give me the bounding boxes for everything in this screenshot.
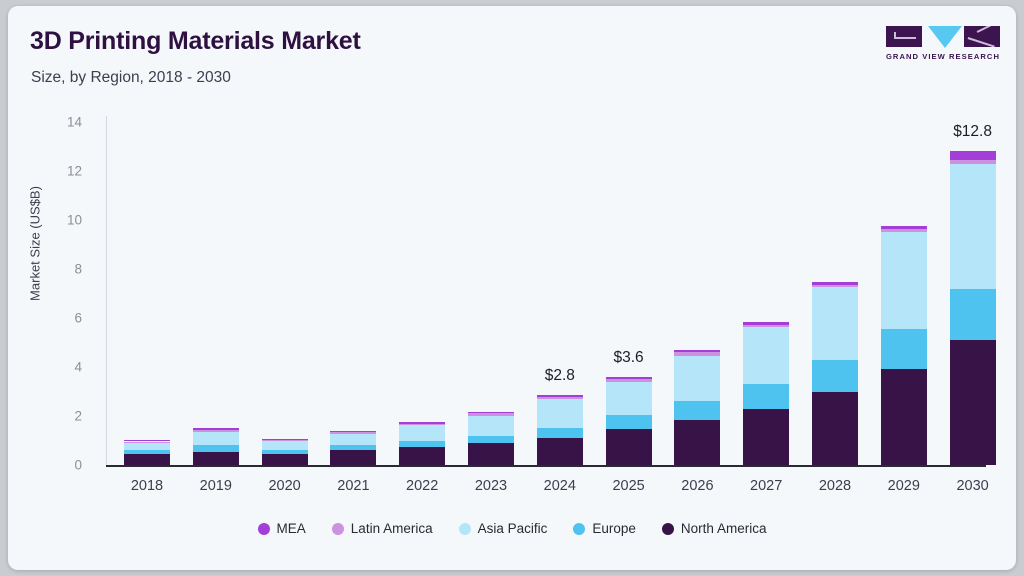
bar-value-label: $12.8 — [918, 123, 1016, 141]
legend-item-north-america[interactable]: North America — [662, 521, 767, 536]
chart-legend: MEALatin AmericaAsia PacificEuropeNorth … — [8, 521, 1016, 536]
y-axis-tick-label: 2 — [46, 409, 82, 424]
bar-segment-mea[interactable] — [193, 428, 239, 430]
bar-segment-north-america[interactable] — [743, 409, 789, 465]
legend-item-europe[interactable]: Europe — [573, 521, 636, 536]
bar-segment-asia-pacific[interactable] — [193, 432, 239, 445]
bar-group[interactable] — [468, 122, 514, 465]
bar-group[interactable] — [743, 122, 789, 465]
bar-segment-asia-pacific[interactable] — [262, 441, 308, 450]
bar-group[interactable] — [262, 122, 308, 465]
y-axis-tick-label: 4 — [46, 360, 82, 375]
bar-segment-latin-america[interactable] — [262, 440, 308, 441]
bar-segment-mea[interactable] — [950, 151, 996, 159]
bar-segment-north-america[interactable] — [950, 340, 996, 465]
bar-segment-asia-pacific[interactable] — [399, 425, 445, 441]
bar-group[interactable] — [330, 122, 376, 465]
y-axis-tick-label: 0 — [46, 458, 82, 473]
legend-swatch-icon — [258, 523, 270, 535]
bar-segment-mea[interactable] — [124, 440, 170, 441]
bar-segment-latin-america[interactable] — [399, 424, 445, 426]
bar-segment-north-america[interactable] — [399, 447, 445, 465]
bar-segment-asia-pacific[interactable] — [537, 399, 583, 428]
bar-segment-europe[interactable] — [743, 384, 789, 409]
legend-swatch-icon — [332, 523, 344, 535]
legend-label: Latin America — [351, 521, 433, 536]
bar-group[interactable] — [674, 122, 720, 465]
legend-item-asia-pacific[interactable]: Asia Pacific — [459, 521, 548, 536]
bar-segment-latin-america[interactable] — [881, 229, 927, 232]
legend-label: MEA — [277, 521, 306, 536]
bar-segment-asia-pacific[interactable] — [743, 327, 789, 385]
bar-segment-asia-pacific[interactable] — [812, 287, 858, 359]
bar-segment-asia-pacific[interactable] — [881, 232, 927, 329]
bar-group[interactable] — [124, 122, 170, 465]
bar-segment-europe[interactable] — [468, 436, 514, 444]
bar-segment-mea[interactable] — [881, 226, 927, 229]
bar-segment-north-america[interactable] — [674, 420, 720, 465]
y-axis-title: Market Size (US$B) — [28, 139, 43, 349]
y-axis-tick-label: 14 — [46, 115, 82, 130]
bar-group[interactable] — [537, 122, 583, 465]
y-axis-tick-label: 10 — [46, 213, 82, 228]
bar-segment-north-america[interactable] — [193, 452, 239, 465]
bar-segment-mea[interactable] — [468, 412, 514, 414]
bar-segment-asia-pacific[interactable] — [468, 416, 514, 436]
bar-group[interactable] — [606, 122, 652, 465]
bar-group[interactable] — [950, 122, 996, 465]
bar-segment-latin-america[interactable] — [193, 430, 239, 432]
bar-chart-plot: Market Size (US$B) 02468101214 201820192… — [8, 6, 1016, 570]
bar-segment-mea[interactable] — [330, 431, 376, 432]
bar-segment-mea[interactable] — [262, 439, 308, 440]
bar-value-label: $2.8 — [505, 367, 615, 385]
bar-group[interactable] — [193, 122, 239, 465]
bar-value-label: $3.6 — [574, 349, 684, 367]
legend-swatch-icon — [573, 523, 585, 535]
y-axis-tick-label: 6 — [46, 311, 82, 326]
bar-segment-asia-pacific[interactable] — [330, 434, 376, 446]
x-axis-tick-label: 2030 — [928, 478, 1016, 494]
bar-segment-north-america[interactable] — [881, 369, 927, 465]
bar-segment-asia-pacific[interactable] — [124, 443, 170, 450]
bar-segment-europe[interactable] — [124, 450, 170, 454]
bar-group[interactable] — [812, 122, 858, 465]
bar-segment-asia-pacific[interactable] — [606, 382, 652, 415]
bar-segment-mea[interactable] — [537, 395, 583, 397]
bar-segment-mea[interactable] — [812, 282, 858, 285]
bar-segment-north-america[interactable] — [468, 443, 514, 465]
legend-swatch-icon — [662, 523, 674, 535]
chart-card: 3D Printing Materials Market Size, by Re… — [8, 6, 1016, 570]
y-axis-tick-label: 12 — [46, 164, 82, 179]
bar-segment-latin-america[interactable] — [537, 397, 583, 399]
bar-segment-europe[interactable] — [674, 401, 720, 420]
bar-segment-europe[interactable] — [950, 289, 996, 340]
legend-item-mea[interactable]: MEA — [258, 521, 306, 536]
bar-segment-europe[interactable] — [881, 329, 927, 369]
bar-segment-north-america[interactable] — [124, 454, 170, 465]
bar-segment-latin-america[interactable] — [468, 413, 514, 415]
bar-segment-north-america[interactable] — [606, 429, 652, 465]
legend-item-latin-america[interactable]: Latin America — [332, 521, 433, 536]
bar-segment-north-america[interactable] — [537, 438, 583, 465]
bar-segment-europe[interactable] — [399, 441, 445, 447]
bar-segment-latin-america[interactable] — [330, 432, 376, 433]
y-axis-line — [106, 116, 107, 466]
x-axis-line — [106, 465, 986, 467]
bar-segment-latin-america[interactable] — [950, 160, 996, 164]
bar-segment-north-america[interactable] — [262, 454, 308, 465]
bar-segment-latin-america[interactable] — [743, 325, 789, 327]
bar-segment-north-america[interactable] — [330, 450, 376, 465]
legend-label: North America — [681, 521, 767, 536]
y-axis-tick-label: 8 — [46, 262, 82, 277]
bar-segment-mea[interactable] — [399, 422, 445, 423]
bar-segment-europe[interactable] — [193, 445, 239, 451]
legend-label: Asia Pacific — [478, 521, 548, 536]
legend-swatch-icon — [459, 523, 471, 535]
bar-segment-latin-america[interactable] — [812, 285, 858, 287]
bar-group[interactable] — [399, 122, 445, 465]
bar-group[interactable] — [881, 122, 927, 465]
bar-segment-mea[interactable] — [743, 322, 789, 324]
bar-segment-latin-america[interactable] — [124, 442, 170, 443]
bar-segment-europe[interactable] — [262, 450, 308, 454]
bar-segment-europe[interactable] — [537, 428, 583, 438]
legend-label: Europe — [592, 521, 636, 536]
bar-segment-europe[interactable] — [812, 360, 858, 392]
bar-segment-europe[interactable] — [330, 445, 376, 450]
bar-segment-asia-pacific[interactable] — [950, 164, 996, 289]
bar-segment-north-america[interactable] — [812, 392, 858, 466]
bar-segment-europe[interactable] — [606, 415, 652, 430]
